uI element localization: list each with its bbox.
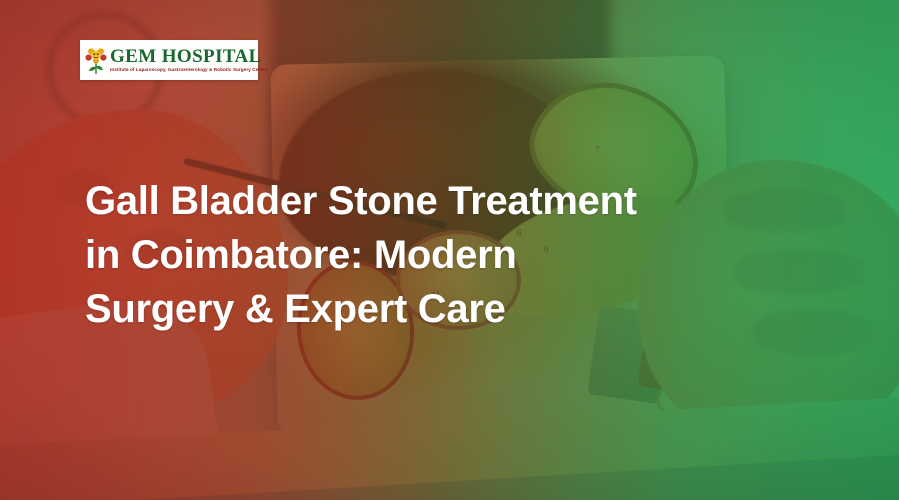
hospital-logo[interactable]: GEM HOSPITAL Institute of Laparoscopy, G… (80, 40, 258, 80)
page-title: Gall Bladder Stone Treatment in Coimbato… (85, 174, 705, 336)
headline-line-1: Gall Bladder Stone Treatment (85, 174, 705, 228)
logo-subtitle: Institute of Laparoscopy, Gastroenterolo… (110, 68, 267, 73)
logo-text-block: GEM HOSPITAL Institute of Laparoscopy, G… (110, 47, 267, 73)
logo-title: GEM HOSPITAL (110, 47, 267, 66)
hero-banner: 7 6 9 11 12 13 14 (0, 0, 899, 500)
headline-line-3: Surgery & Expert Care (85, 282, 705, 336)
headline-line-2: in Coimbatore: Modern (85, 228, 705, 282)
flower-emblem-icon (84, 45, 108, 75)
